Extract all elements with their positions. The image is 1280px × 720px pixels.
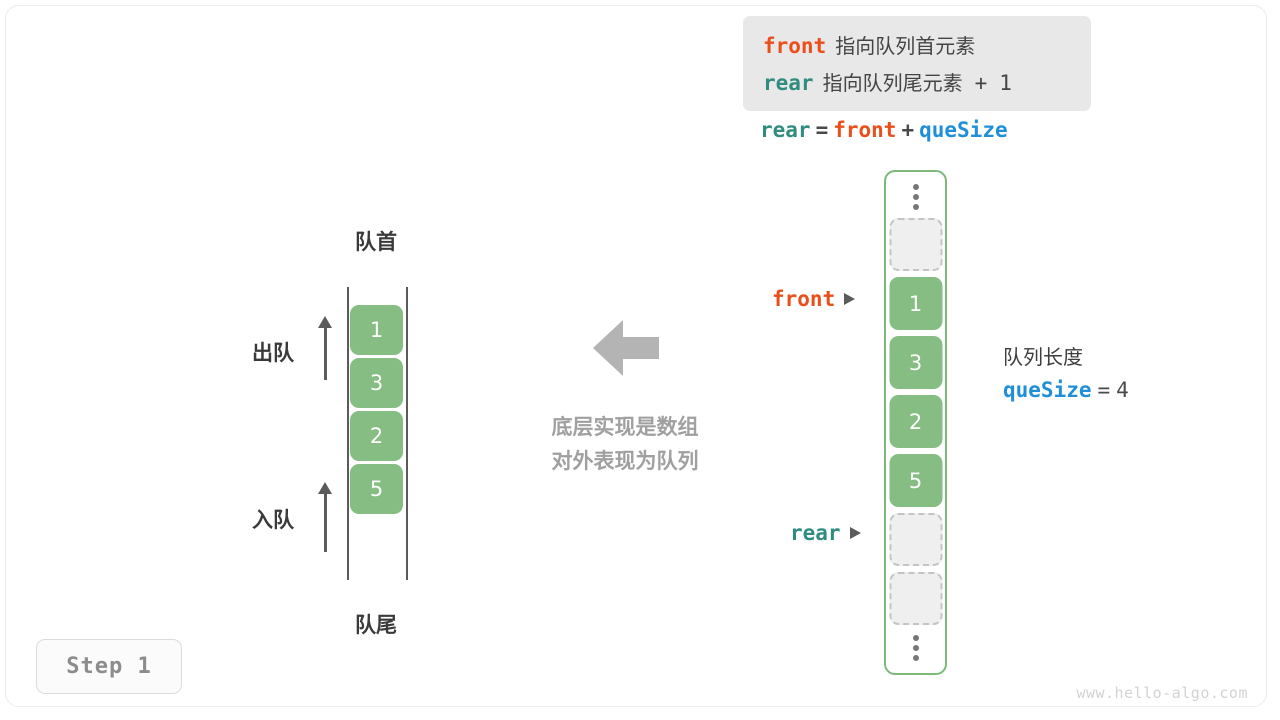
array-slot-empty-0 <box>889 218 942 271</box>
array-slot-filled-3: 2 <box>889 395 942 448</box>
dequeue-arrow-icon <box>318 316 332 380</box>
legend-suffix-op: + <box>975 71 988 95</box>
quesize-note: 队列长度 queSize=4 <box>1003 341 1129 402</box>
center-caption-line2: 对外表现为队列 <box>505 444 745 478</box>
formula-term-quesize: queSize <box>919 118 1008 142</box>
array-slot-value: 5 <box>909 469 922 493</box>
watermark: www.hello-algo.com <box>1076 684 1248 702</box>
queue-box-0: 1 <box>350 305 403 355</box>
queue-rail-right <box>406 287 408 580</box>
pointer-rear-arrow-icon <box>850 527 861 539</box>
array-slot-filled-1: 1 <box>889 277 942 330</box>
enqueue-label: 入队 <box>252 504 294 534</box>
legend-text-rear: 指向队列尾元素 <box>823 71 963 95</box>
queue-box-2: 2 <box>350 411 403 461</box>
queue-box-value: 3 <box>370 371 383 395</box>
queue-box-value: 5 <box>370 477 383 501</box>
ellipsis-top-icon <box>913 184 919 210</box>
left-arrow-icon <box>593 320 659 376</box>
queue-box-value: 2 <box>370 424 383 448</box>
queue-rail-left <box>347 287 349 580</box>
queue-box-value: 1 <box>370 318 383 342</box>
formula-term-front: front <box>833 118 896 142</box>
array-container: 1 3 2 5 <box>884 170 947 675</box>
formula-equals-sign: = <box>816 118 829 142</box>
dequeue-label: 出队 <box>252 337 294 367</box>
array-slot-filled-4: 5 <box>889 454 942 507</box>
legend-keyword-rear: rear <box>763 71 814 95</box>
array-slot-value: 2 <box>909 410 922 434</box>
formula-rear-equals: rear=front+queSize <box>760 118 1008 142</box>
array-slot-empty-6 <box>889 572 942 625</box>
enqueue-arrow-icon <box>318 482 332 552</box>
queue-tail-label: 队尾 <box>345 609 407 639</box>
array-slot-value: 1 <box>909 292 922 316</box>
diagram-canvas: front指向队列首元素 rear指向队列尾元素+1 rear=front+qu… <box>0 0 1280 720</box>
quesize-note-equals: = <box>1098 378 1111 402</box>
queue-head-label: 队首 <box>345 226 407 256</box>
pointer-rear: rear <box>790 521 861 545</box>
pointer-front-label: front <box>772 287 835 311</box>
array-slot-value: 3 <box>909 351 922 375</box>
array-slot-empty-5 <box>889 513 942 566</box>
queue-box-3: 5 <box>350 464 403 514</box>
ellipsis-bottom-icon <box>913 635 919 661</box>
quesize-note-value: 4 <box>1116 378 1129 402</box>
queue-box-1: 3 <box>350 358 403 408</box>
quesize-note-name: queSize <box>1003 378 1092 402</box>
pointer-front: front <box>772 287 855 311</box>
pointer-rear-label: rear <box>790 521 841 545</box>
legend-line-rear: rear指向队列尾元素+1 <box>763 65 1071 102</box>
formula-plus-sign: + <box>901 118 914 142</box>
formula-lhs-rear: rear <box>760 118 811 142</box>
legend-box: front指向队列首元素 rear指向队列尾元素+1 <box>743 16 1091 111</box>
legend-text-front: 指向队列首元素 <box>835 34 975 58</box>
step-badge: Step 1 <box>36 639 182 694</box>
legend-suffix-value: 1 <box>999 71 1012 95</box>
quesize-note-label: 队列长度 <box>1003 341 1129 370</box>
legend-line-front: front指向队列首元素 <box>763 28 1071 65</box>
center-caption-line1: 底层实现是数组 <box>505 410 745 444</box>
center-caption: 底层实现是数组 对外表现为队列 <box>505 410 745 478</box>
legend-keyword-front: front <box>763 34 826 58</box>
array-slot-filled-2: 3 <box>889 336 942 389</box>
pointer-front-arrow-icon <box>844 293 855 305</box>
